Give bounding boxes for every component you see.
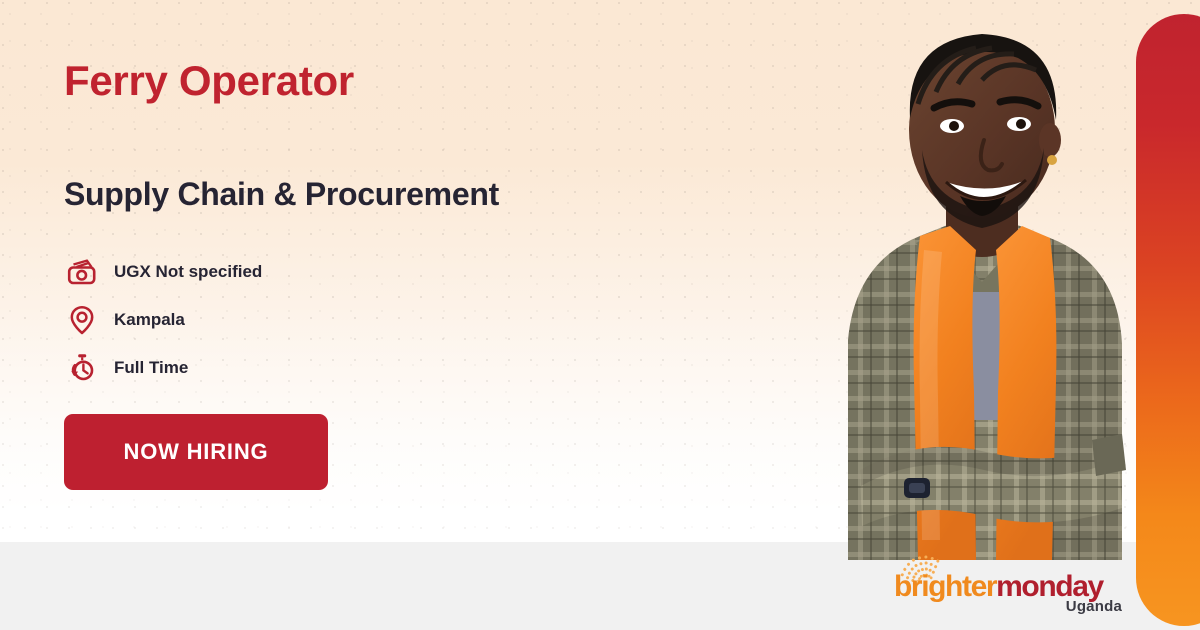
worker-photo-illustration [800,0,1160,560]
side-accent-pill [1136,14,1200,626]
meta-location-text: Kampala [114,310,185,330]
money-icon [62,254,102,290]
now-hiring-button[interactable]: NOW HIRING [64,414,328,490]
stopwatch-icon [62,350,102,386]
job-category: Supply Chain & Procurement [64,176,499,213]
job-meta-list: UGX Not specified Kampala [62,252,262,396]
brightermonday-logo[interactable]: brightermonday Uganda [876,554,1126,620]
logo-word-brighter: brighter [894,570,996,603]
job-title: Ferry Operator [64,58,354,104]
banner-content: Ferry Operator Supply Chain & Procuremen… [0,0,760,542]
meta-row-type: Full Time [62,348,262,388]
logo-country-label: Uganda [1066,598,1122,615]
meta-row-location: Kampala [62,300,262,340]
job-banner: Ferry Operator Supply Chain & Procuremen… [0,0,1200,630]
meta-row-salary: UGX Not specified [62,252,262,292]
location-pin-icon [62,302,102,338]
worker-photo [800,0,1160,560]
meta-salary-text: UGX Not specified [114,262,262,282]
meta-employment-type-text: Full Time [114,358,188,378]
